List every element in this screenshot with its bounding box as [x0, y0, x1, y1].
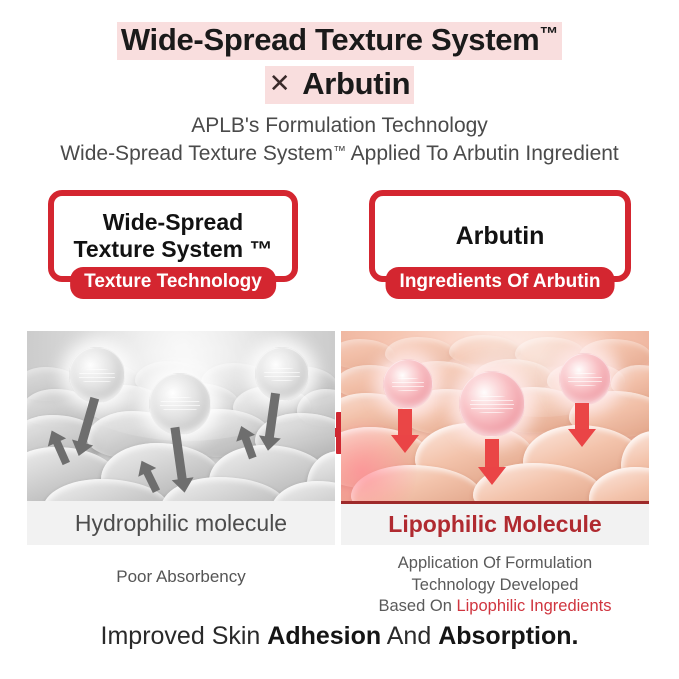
- arbutin-card: Arbutin Ingredients Of Arbutin: [369, 190, 631, 282]
- page-title: Wide-Spread Texture System™ ✕Arbutin: [0, 22, 679, 104]
- title-main-text: Wide-Spread Texture System: [121, 22, 540, 57]
- lipophilic-note-line-1: Application Of Formulation: [341, 553, 649, 575]
- arrow-down-center: [485, 439, 499, 487]
- droplet-right: [559, 353, 611, 405]
- lipophilic-caption: Lipophilic Molecule: [388, 511, 601, 538]
- lipophilic-note-highlight: Lipophilic Ingredients: [456, 597, 611, 615]
- subtitle-line-2-a: Wide-Spread Texture System: [60, 142, 333, 165]
- subtitle-line-2-b: Applied To Arbutin Ingredient: [346, 142, 619, 165]
- lipophilic-note-line-3: Based On Lipophilic Ingredients: [341, 596, 649, 618]
- title-line-2: ✕Arbutin: [0, 66, 679, 104]
- texture-card-line-2: Texture System ™: [74, 236, 273, 263]
- subtitle: APLB's Formulation Technology Wide-Sprea…: [0, 112, 679, 167]
- formula-row: Wide-Spread Texture System ™ Texture Tec…: [0, 190, 679, 315]
- hydrophilic-caption-bar: Hydrophilic molecule: [27, 501, 335, 545]
- texture-technology-card: Wide-Spread Texture System ™ Texture Tec…: [48, 190, 298, 282]
- footer-headline: Improved Skin Adhesion And Absorption.: [0, 622, 679, 651]
- lipophilic-caption-bar: Lipophilic Molecule: [341, 501, 649, 545]
- promo-infographic: Wide-Spread Texture System™ ✕Arbutin APL…: [0, 0, 679, 679]
- subtitle-line-1: APLB's Formulation Technology: [0, 112, 679, 140]
- hydrophilic-illustration: [27, 331, 335, 501]
- droplet-center: [459, 371, 525, 437]
- droplet-right: [255, 347, 309, 401]
- trademark-symbol: ™: [539, 24, 558, 45]
- title-ingredient-text: Arbutin: [302, 66, 410, 101]
- footer-bold-absorption: Absorption.: [438, 622, 578, 650]
- droplet-left: [69, 347, 125, 403]
- texture-technology-card-title: Wide-Spread Texture System ™: [74, 209, 273, 262]
- droplet-left: [383, 359, 433, 409]
- footer-part-2: And: [381, 622, 438, 650]
- lipophilic-note-line-2: Technology Developed: [341, 575, 649, 597]
- footer-part-1: Improved Skin: [101, 622, 268, 650]
- cross-icon: ✕: [269, 68, 303, 98]
- footer-bold-adhesion: Adhesion: [267, 622, 381, 650]
- subtitle-line-2: Wide-Spread Texture System™ Applied To A…: [0, 140, 679, 168]
- lipophilic-panel: Lipophilic Molecule: [341, 331, 649, 545]
- hydrophilic-panel: Hydrophilic molecule: [27, 331, 335, 545]
- hydrophilic-note: Poor Absorbency: [27, 567, 335, 587]
- arbutin-card-line-1: Arbutin: [456, 222, 545, 251]
- droplet-center: [149, 373, 211, 435]
- title-line-1: Wide-Spread Texture System™: [0, 22, 679, 60]
- arrow-down-left: [398, 409, 412, 453]
- trademark-symbol-small: ™: [333, 143, 346, 158]
- texture-technology-badge: Texture Technology: [70, 267, 276, 299]
- lipophilic-note: Application Of Formulation Technology De…: [341, 553, 649, 618]
- hydrophilic-caption: Hydrophilic molecule: [75, 510, 287, 537]
- arrow-down-right: [575, 403, 589, 447]
- arbutin-badge: Ingredients Of Arbutin: [386, 267, 615, 299]
- lipophilic-illustration: [341, 331, 649, 501]
- lipophilic-note-line-3-prefix: Based On: [379, 597, 457, 615]
- arbutin-card-title: Arbutin: [456, 222, 545, 251]
- texture-card-line-1: Wide-Spread: [74, 209, 273, 236]
